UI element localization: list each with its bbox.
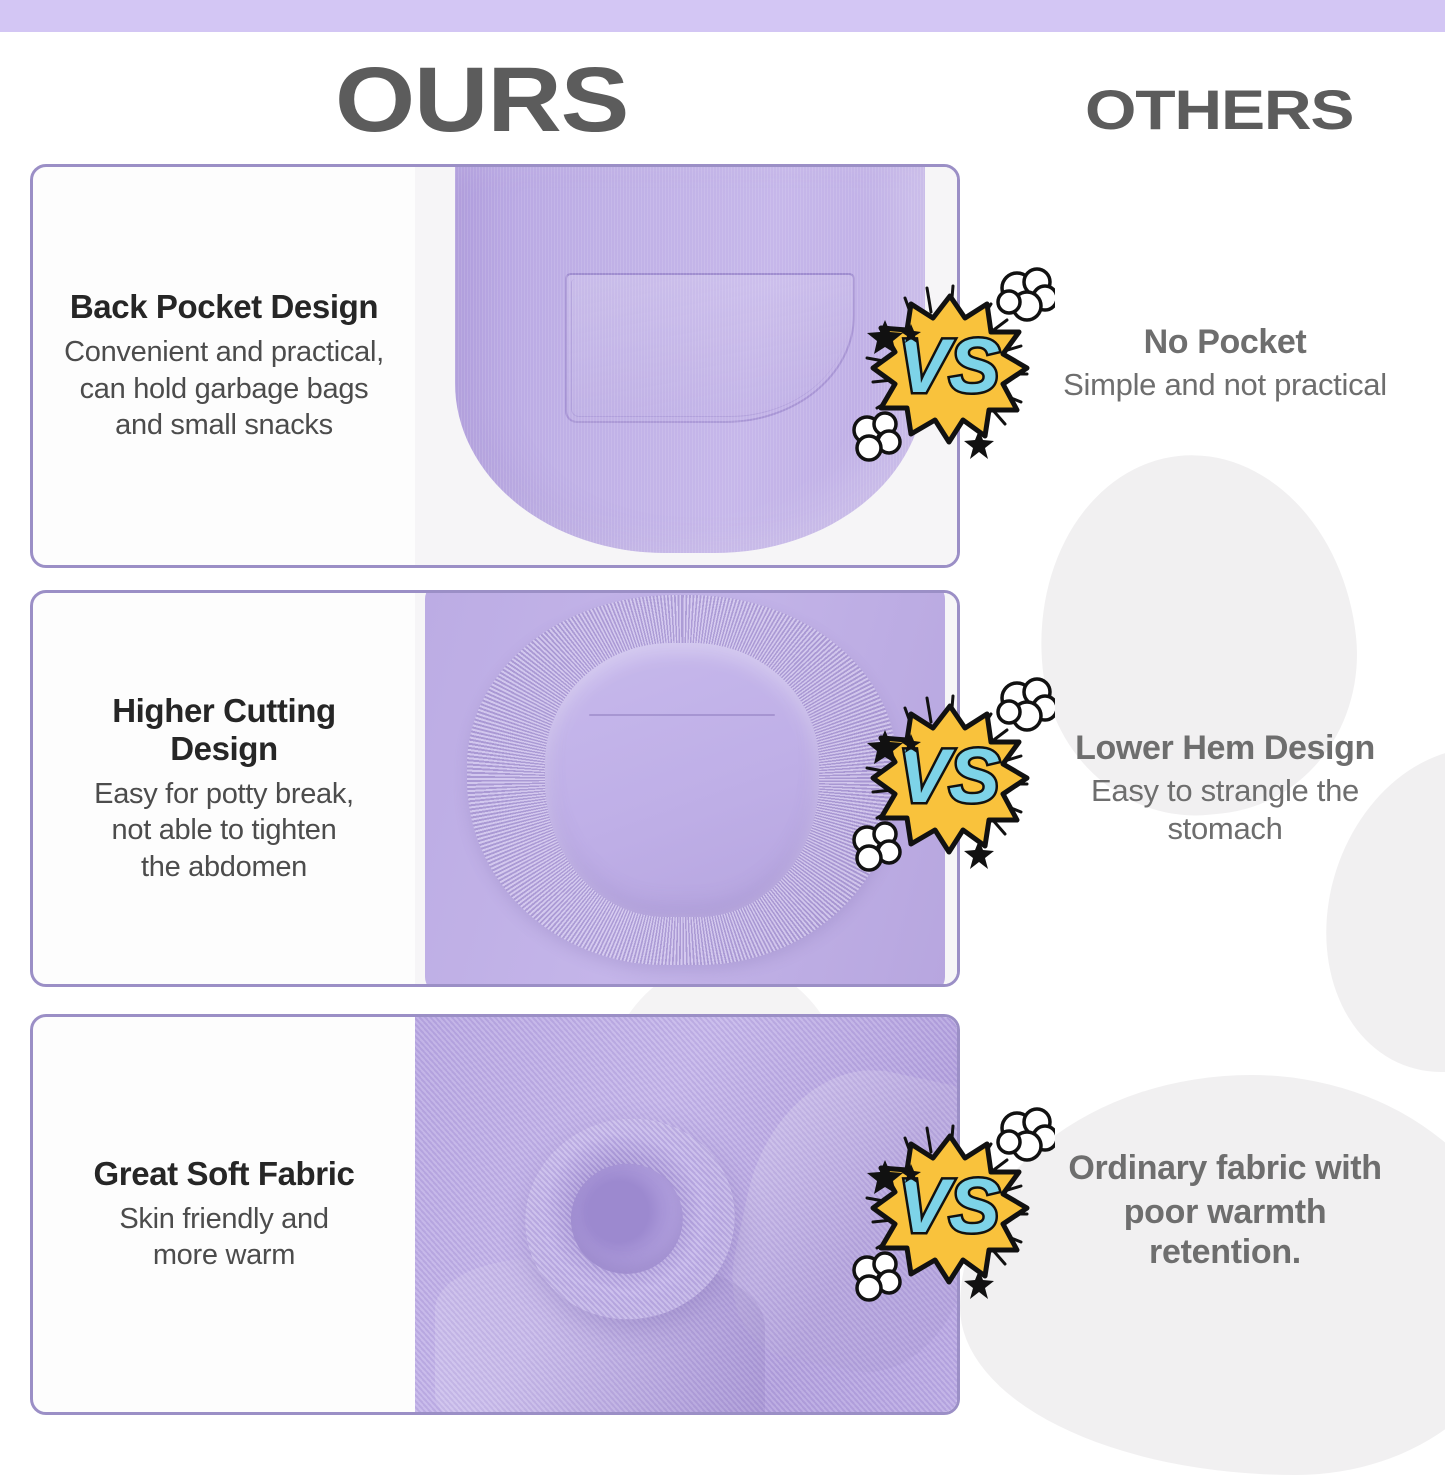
others-title-3: Ordinary fabric with (1010, 1148, 1440, 1188)
top-accent-bar (0, 0, 1445, 32)
panel-3-text-block: Great Soft Fabric Skin friendly andmore … (33, 1017, 415, 1412)
hem-inner-fleece (545, 643, 819, 917)
vs-cloud-puff-top-3 (998, 1109, 1055, 1160)
others-subtitle-1: Simple and not practical (1010, 366, 1440, 404)
ours-title-2: Higher CuttingDesign (112, 692, 336, 768)
others-block-2: Lower Hem Design Easy to strangle thesto… (1010, 728, 1440, 848)
vs-badge-2: VS (845, 672, 1055, 872)
others-title-1: No Pocket (1010, 322, 1440, 362)
others-title-2: Lower Hem Design (1010, 728, 1440, 768)
vs-badge-3: VS (845, 1102, 1055, 1302)
ours-title-1: Back Pocket Design (70, 288, 378, 326)
vs-badge-1: VS (845, 262, 1055, 462)
ours-subtitle-1: Convenient and practical,can hold garbag… (64, 334, 384, 444)
vs-cloud-puff-bottom-1 (854, 413, 900, 460)
others-block-1: No Pocket Simple and not practical (1010, 322, 1440, 404)
back-pocket (565, 273, 855, 423)
ours-title-3: Great Soft Fabric (94, 1155, 355, 1193)
vs-cloud-puff-bottom-3 (854, 1253, 900, 1300)
column-heading-others: OTHERS (1085, 82, 1353, 138)
vs-cloud-puff-top-1 (998, 269, 1055, 320)
vs-cloud-puff-bottom-2 (854, 823, 900, 870)
column-heading-ours: OURS (335, 54, 628, 146)
ours-subtitle-2: Easy for potty break,not able to tighten… (94, 776, 354, 886)
ours-subtitle-3: Skin friendly andmore warm (119, 1201, 328, 1274)
comparison-panel-3: Great Soft Fabric Skin friendly andmore … (30, 1014, 960, 1415)
others-subtitle-3: poor warmthretention. (1010, 1192, 1440, 1272)
others-subtitle-2: Easy to strangle thestomach (1010, 772, 1440, 848)
comparison-panel-2: Higher CuttingDesign Easy for potty brea… (30, 590, 960, 987)
others-block-3: Ordinary fabric with poor warmthretentio… (1010, 1148, 1440, 1272)
panel-2-text-block: Higher CuttingDesign Easy for potty brea… (33, 593, 415, 984)
vs-cloud-puff-top-2 (998, 679, 1055, 730)
ribbed-hem-band (467, 595, 897, 965)
comparison-panel-1: Back Pocket Design Convenient and practi… (30, 164, 960, 568)
panel-1-text-block: Back Pocket Design Convenient and practi… (33, 167, 415, 565)
hem-seam-line (589, 714, 775, 716)
